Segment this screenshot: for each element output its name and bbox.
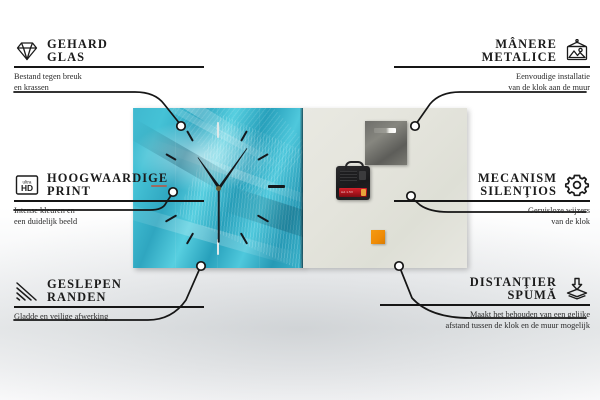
callout-gehard-glas: GEHARD GLAS Bestand tegen breuk en krass… (14, 38, 204, 93)
mechanism-hanger-loop (345, 161, 364, 170)
desc-line-1: Maakt het behouden van een gelijke (380, 309, 590, 320)
callout-rule (394, 66, 590, 68)
desc-line-2: en krassen (14, 82, 204, 93)
title-line-2: SILENŢIOS (480, 185, 557, 198)
title-line-2: SPUMĂ (507, 289, 557, 302)
press-layers-icon (564, 277, 590, 301)
framed-picture-icon (564, 39, 590, 63)
quartz-mechanism: AA 1.5V (336, 166, 370, 200)
desc-line-1: Geruisloze wijzers (394, 205, 590, 216)
callout-description-manere-metalice: Eenvoudige installatie van de klok aan d… (394, 71, 590, 93)
hanger-slot (374, 128, 396, 133)
battery-positive-terminal (361, 189, 366, 196)
callout-rule (14, 66, 204, 68)
title-line-2: PRINT (47, 185, 168, 198)
callout-description-distantier-spuma: Maakt het behouden van een gelijke afsta… (380, 309, 590, 331)
callout-title-hoogwaardige-print: HOOGWAARDIGE PRINT (47, 172, 168, 197)
callout-rule (394, 200, 590, 202)
callout-description-mecanism-silentios: Geruisloze wijzers van de klok (394, 205, 590, 227)
desc-line-1: Eenvoudige installatie (394, 71, 590, 82)
desc-line-2: een duidelijk beeld (14, 216, 204, 227)
callout-mecanism-silentios: MECANISM SILENŢIOS Geruisloze wijzers va… (394, 172, 590, 227)
clock-center-cap (216, 186, 221, 191)
callout-title-geslepen-randen: GESLEPEN RANDEN (47, 278, 122, 303)
clock-tick-12 (217, 122, 219, 138)
callout-title-mecanism-silentios: MECANISM SILENŢIOS (478, 172, 557, 197)
svg-text:HD: HD (21, 183, 33, 193)
title-line-1: HOOGWAARDIGE (47, 172, 168, 185)
callout-title-gehard-glas: GEHARD GLAS (47, 38, 108, 63)
foam-spacer (371, 230, 385, 244)
clock-second-hand (218, 188, 220, 243)
desc-line-1: Bestand tegen breuk (14, 71, 204, 82)
battery: AA 1.5V (339, 188, 367, 197)
callout-manere-metalice: MÂNERE METALICE Eenvoudige installatie v… (394, 38, 590, 93)
desc-line-2: afstand tussen de klok en de muur mogeli… (380, 320, 590, 331)
title-line-2: METALICE (482, 51, 557, 64)
callout-title-distantier-spuma: DISTANŢIER SPUMĂ (470, 276, 557, 301)
title-line-1: MÂNERE (495, 38, 557, 51)
desc-line-1: Intense kleuren en (14, 205, 204, 216)
callout-rule (14, 306, 204, 308)
mechanism-grill (340, 171, 357, 183)
callout-rule (380, 304, 590, 306)
beveled-edges-icon (14, 279, 40, 303)
callout-description-gehard-glas: Bestand tegen breuk en krassen (14, 71, 204, 93)
ultra-hd-icon: ultra HD (14, 173, 40, 197)
diamond-icon (14, 39, 40, 63)
title-line-1: DISTANŢIER (470, 276, 557, 289)
title-line-1: GEHARD (47, 38, 108, 51)
desc-line-1: Gladde en veilige afwerking (14, 311, 204, 322)
callout-hoogwaardige-print: ultra HD HOOGWAARDIGE PRINT Intense kleu… (14, 172, 204, 227)
title-line-2: RANDEN (47, 291, 122, 304)
mechanism-dial (359, 171, 366, 180)
desc-line-2: van de klok aan de muur (394, 82, 590, 93)
callout-distantier-spuma: DISTANŢIER SPUMĂ Maakt het behouden van … (380, 276, 590, 331)
callout-rule (14, 200, 204, 202)
desc-line-2: van de klok (394, 216, 590, 227)
title-line-1: MECANISM (478, 172, 557, 185)
callout-description-hoogwaardige-print: Intense kleuren en een duidelijk beeld (14, 205, 204, 227)
callout-geslepen-randen: GESLEPEN RANDEN Gladde en veilige afwerk… (14, 278, 204, 322)
title-line-1: GESLEPEN (47, 278, 122, 291)
battery-label: AA 1.5V (341, 190, 353, 194)
callout-title-manere-metalice: MÂNERE METALICE (482, 38, 557, 63)
infographic-canvas: AA 1.5V (0, 0, 600, 400)
gear-icon (564, 173, 590, 197)
clock-tick-3 (268, 185, 285, 188)
callout-description-geslepen-randen: Gladde en veilige afwerking (14, 311, 204, 322)
title-line-2: GLAS (47, 51, 108, 64)
metal-hanger-plate (365, 121, 407, 165)
